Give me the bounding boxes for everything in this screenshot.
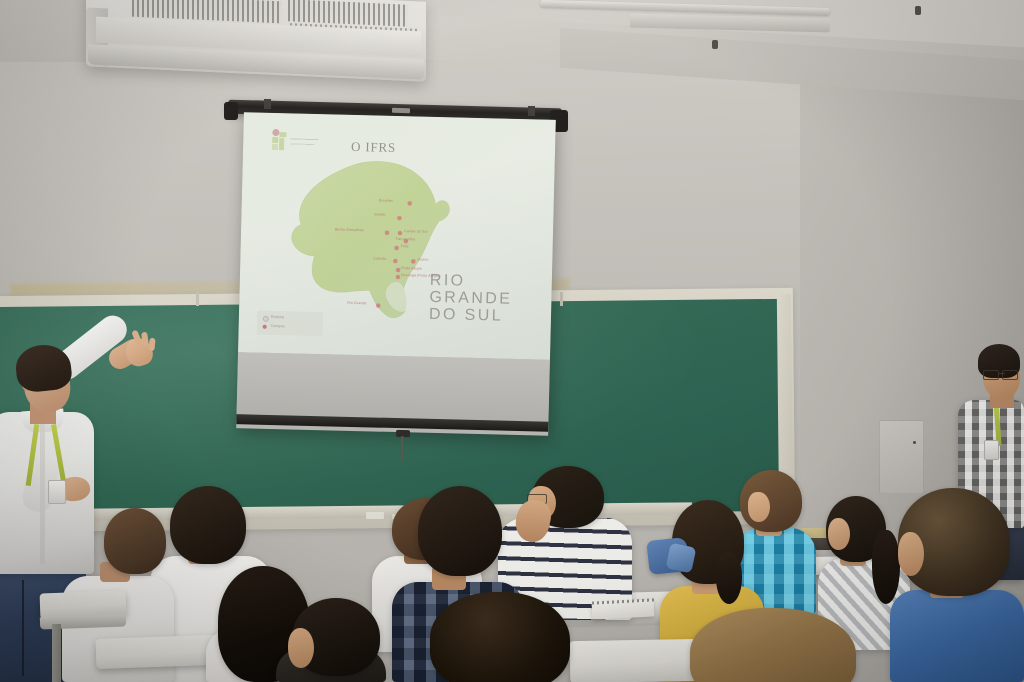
city-marker: [411, 259, 415, 263]
standing-man-badge: [984, 440, 999, 460]
legend-dot-reitoria: [263, 316, 269, 322]
city-label: Farroupilha: [396, 237, 415, 241]
chalkboard-frame-seam: [196, 292, 199, 306]
roller-mount-bracket: [528, 106, 535, 116]
table-front-right: [570, 639, 701, 682]
city-marker: [396, 275, 400, 279]
chalkboard-frame-seam: [560, 292, 563, 306]
legend-label-reitoria: Reitoria: [271, 315, 284, 319]
ponytail: [716, 552, 742, 604]
attendee-bald-farleft-head: [104, 508, 166, 574]
map-state-name-line1: RIO GRANDE: [429, 272, 552, 309]
city-label: Sertão: [374, 212, 385, 216]
roller-label: [392, 108, 410, 113]
city-marker: [398, 231, 402, 235]
city-label: Erechim: [379, 199, 393, 203]
map-state-name-line2: DO SUL: [429, 306, 551, 326]
legend-dot-campus: [263, 325, 267, 329]
classroom-scene: O IFRS Erechim Sertão Bento Gonç: [0, 0, 1024, 682]
logo-block: [272, 137, 278, 143]
ponytail: [872, 530, 900, 604]
city-marker: [408, 201, 412, 205]
attendee-blue-shirt: [890, 590, 1024, 682]
eyeglasses-icon: [1002, 370, 1018, 380]
logo-block: [279, 138, 284, 150]
city-label: Rio Grande: [347, 301, 366, 305]
city-label: Canoas: [373, 256, 386, 260]
city-label: Osório: [417, 258, 428, 262]
table-leg: [52, 624, 61, 682]
slide: O IFRS Erechim Sertão Bento Gonç: [238, 112, 556, 360]
attendee-plaid-navy-hair: [418, 486, 502, 576]
city-marker: [393, 259, 397, 263]
ifrs-logo-icon: [270, 129, 319, 154]
light-clip: [712, 40, 718, 49]
blue-bag-strap: [666, 543, 697, 574]
eyeglasses-icon: [983, 370, 999, 380]
wall-access-panel: [879, 420, 924, 494]
city-label: Feliz: [401, 244, 409, 248]
map-state-name: RIO GRANDE DO SUL: [429, 272, 552, 326]
logo-wordmark-line: [290, 143, 314, 146]
legend-label-campus: Campus: [271, 324, 285, 328]
presenter-badge: [48, 480, 66, 504]
panel-screw: [913, 441, 916, 444]
city-label: Caxias do Sul: [404, 229, 428, 234]
city-marker: [385, 231, 389, 235]
city-marker: [376, 304, 380, 308]
attendee-white-shirt-hair: [170, 486, 246, 564]
logo-block: [279, 132, 286, 137]
city-label: Bento Gonçalves: [335, 227, 364, 232]
map-legend: Reitoria Campus: [256, 311, 323, 337]
attendee-cyan-plaid-face: [748, 492, 770, 522]
light-clip: [915, 6, 921, 15]
presenter-shirt-placket: [40, 424, 45, 564]
city-marker: [397, 216, 401, 220]
projector-screen: O IFRS Erechim Sertão Bento Gonç: [236, 112, 556, 436]
logo-block: [272, 144, 278, 150]
city-marker: [395, 246, 399, 250]
logo-wordmark-line: [290, 138, 318, 141]
attendee-short-hair-front-face: [288, 628, 314, 668]
attendee-patterned-top-face: [828, 518, 850, 550]
screen-unlit-area: [237, 352, 550, 422]
roller-mount-bracket: [264, 99, 271, 109]
eraser[interactable]: [366, 512, 384, 519]
roller-end-left: [224, 102, 238, 120]
eyeglasses-bridge: [999, 373, 1005, 374]
city-label: Porto Alegre: [401, 266, 422, 271]
presenter-jeans-seam: [22, 580, 24, 676]
city-marker: [396, 268, 400, 272]
attendee-blue-shirt-face: [898, 532, 924, 576]
attendee-curly-center-hair: [430, 592, 570, 682]
